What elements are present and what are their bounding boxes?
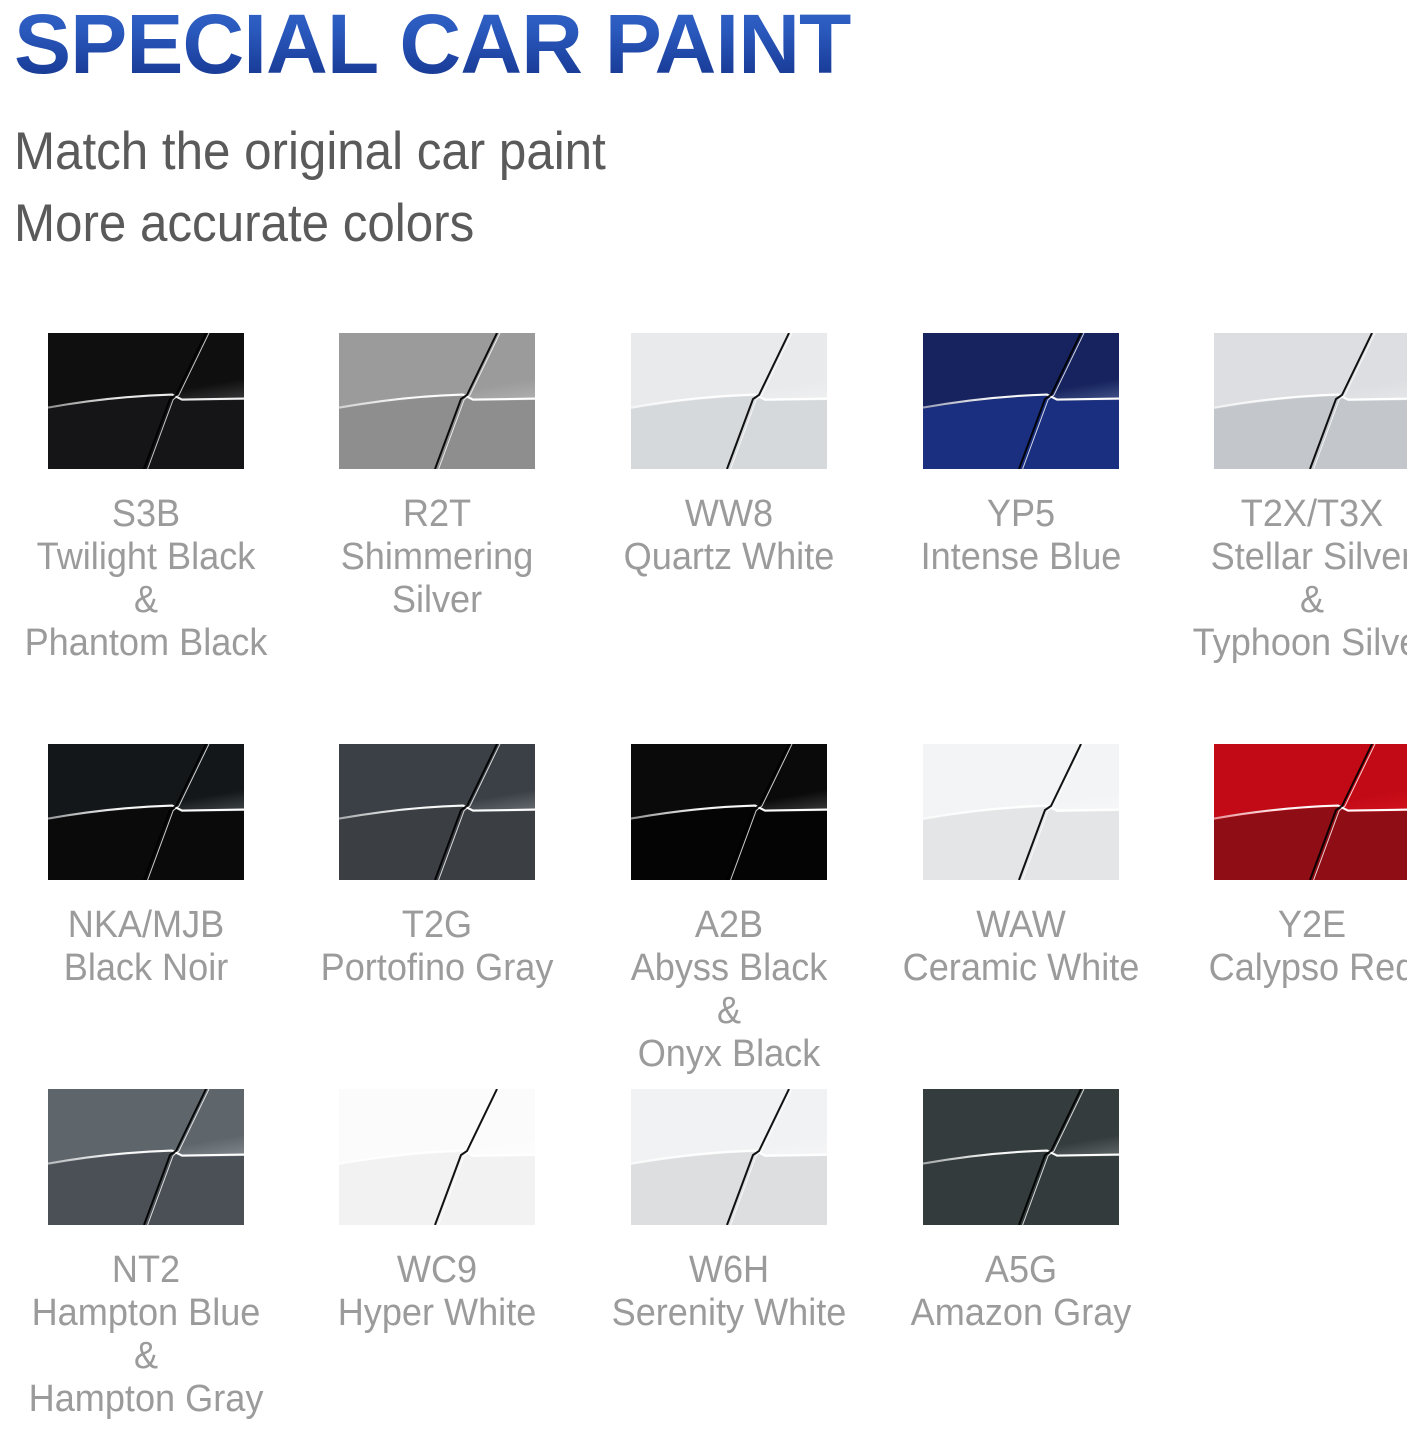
paint-swatch-label: NKA/MJB Black Noir <box>7 904 284 990</box>
car-panel-illustration <box>339 744 535 880</box>
car-panel-illustration <box>339 1089 535 1225</box>
paint-swatch-card[interactable]: S3B Twilight Black & Phantom Black <box>0 333 292 665</box>
car-panel-illustration <box>631 333 827 469</box>
paint-swatch-card[interactable]: YP5 Intense Blue <box>875 333 1167 579</box>
paint-swatch-label: T2G Portofino Gray <box>298 904 575 990</box>
subtitle-block: Match the original car paint More accura… <box>14 116 1407 260</box>
paint-swatch-image <box>923 744 1119 880</box>
subtitle-line-2: More accurate colors <box>14 188 1309 260</box>
car-panel-illustration <box>339 333 535 469</box>
paint-swatch-label: Y2E Calypso Red <box>1173 904 1407 990</box>
paint-swatch-label: A2B Abyss Black & Onyx Black <box>590 904 867 1076</box>
paint-swatch-image <box>48 744 244 880</box>
paint-swatch-image <box>923 333 1119 469</box>
paint-swatch-card[interactable]: NKA/MJB Black Noir <box>0 744 292 990</box>
paint-swatch-image <box>631 1089 827 1225</box>
paint-swatch-card[interactable]: A5G Amazon Gray <box>875 1089 1167 1335</box>
paint-swatch-label: R2T Shimmering Silver <box>298 493 575 622</box>
subtitle-line-1: Match the original car paint <box>14 116 1309 188</box>
paint-swatch-label: S3B Twilight Black & Phantom Black <box>7 493 284 665</box>
paint-swatch-image <box>48 1089 244 1225</box>
car-panel-illustration <box>631 1089 827 1225</box>
car-panel-illustration <box>1214 333 1407 469</box>
car-panel-illustration <box>923 744 1119 880</box>
page-header: SPECIAL CAR PAINT Match the original car… <box>0 0 1407 260</box>
paint-swatch-image <box>1214 744 1407 880</box>
car-panel-illustration <box>923 1089 1119 1225</box>
paint-swatch-image <box>339 744 535 880</box>
paint-swatch-card[interactable]: WC9 Hyper White <box>291 1089 583 1335</box>
paint-swatch-card[interactable]: W6H Serenity White <box>583 1089 875 1335</box>
paint-swatch-label: A5G Amazon Gray <box>882 1249 1159 1335</box>
paint-swatch-card[interactable]: T2G Portofino Gray <box>291 744 583 990</box>
paint-swatch-card[interactable]: WW8 Quartz White <box>583 333 875 579</box>
paint-swatch-label: WC9 Hyper White <box>298 1249 575 1335</box>
paint-swatch-card[interactable]: Y2E Calypso Red <box>1166 744 1407 990</box>
paint-swatch-card[interactable]: NT2 Hampton Blue & Hampton Gray <box>0 1089 292 1421</box>
car-panel-illustration <box>1214 744 1407 880</box>
paint-swatch-image <box>339 333 535 469</box>
paint-swatch-card[interactable]: WAW Ceramic White <box>875 744 1167 990</box>
page-title: SPECIAL CAR PAINT <box>14 0 1407 86</box>
paint-swatch-card[interactable]: R2T Shimmering Silver <box>291 333 583 622</box>
car-panel-illustration <box>48 744 244 880</box>
paint-swatch-label: WW8 Quartz White <box>590 493 867 579</box>
paint-swatch-image <box>48 333 244 469</box>
paint-swatch-image <box>631 744 827 880</box>
paint-swatch-image <box>923 1089 1119 1225</box>
paint-swatch-card[interactable]: A2B Abyss Black & Onyx Black <box>583 744 875 1076</box>
car-panel-illustration <box>923 333 1119 469</box>
paint-swatch-label: NT2 Hampton Blue & Hampton Gray <box>7 1249 284 1421</box>
paint-swatch-label: T2X/T3X Stellar Silver & Typhoon Silver <box>1173 493 1407 665</box>
paint-swatch-label: WAW Ceramic White <box>882 904 1159 990</box>
paint-swatch-label: W6H Serenity White <box>590 1249 867 1335</box>
car-panel-illustration <box>631 744 827 880</box>
paint-swatch-image <box>631 333 827 469</box>
car-panel-illustration <box>48 1089 244 1225</box>
car-panel-illustration <box>48 333 244 469</box>
paint-swatch-image <box>339 1089 535 1225</box>
paint-swatch-card[interactable]: T2X/T3X Stellar Silver & Typhoon Silver <box>1166 333 1407 665</box>
paint-swatch-label: YP5 Intense Blue <box>882 493 1159 579</box>
paint-swatch-image <box>1214 333 1407 469</box>
